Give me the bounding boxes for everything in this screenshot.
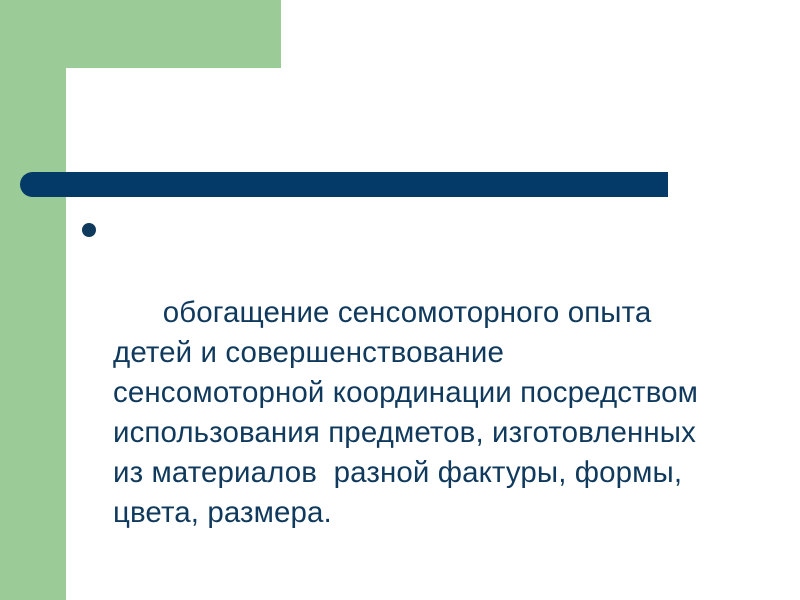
slide-canvas: обогащение сенсомоторного опыта детей и … bbox=[0, 0, 800, 600]
green-left-strip-decoration bbox=[0, 0, 66, 600]
navy-accent-bar-decoration bbox=[20, 172, 668, 197]
bullet-text: обогащение сенсомоторного опыта детей и … bbox=[113, 296, 706, 529]
list-item: обогащение сенсомоторного опыта детей и … bbox=[80, 213, 720, 573]
bullet-dot-icon bbox=[82, 223, 96, 237]
green-top-band-decoration bbox=[0, 0, 281, 68]
slide-body-content: обогащение сенсомоторного опыта детей и … bbox=[80, 213, 720, 573]
